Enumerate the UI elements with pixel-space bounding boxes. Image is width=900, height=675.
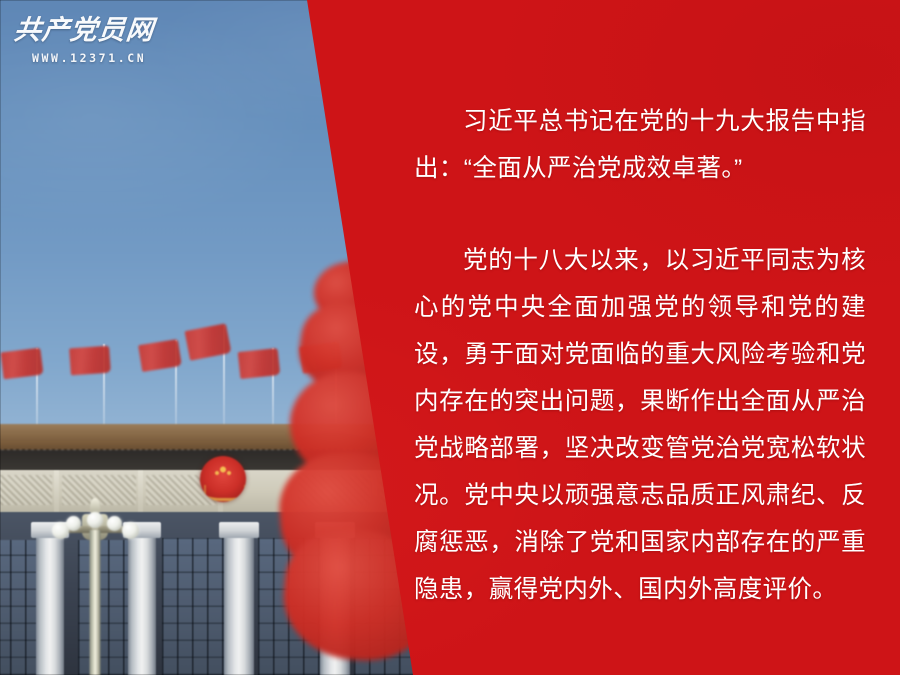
lamp-globe [66, 516, 81, 531]
article-copy: 习近平总书记在党的十九大报告中指出：“全面从严治党成效卓著。” 党的十八大以来，… [414, 98, 866, 613]
window [162, 538, 230, 675]
paragraph-body: 党的十八大以来，以习近平同志为核心的党中央全面加强党的领导和党的建设，勇于面对党… [414, 237, 866, 613]
lamp-globe [122, 522, 139, 539]
frieze-divider [138, 470, 143, 512]
column-capital [219, 522, 259, 538]
site-watermark[interactable]: 共产党员网 WWW.12371.CN [14, 14, 164, 65]
site-name-label: 共产党员网 [12, 14, 156, 48]
site-logo-icon: 共产党员网 [14, 14, 150, 48]
lamp-shaft [90, 530, 101, 675]
column [224, 522, 254, 675]
paragraph-quote: 习近平总书记在党的十九大报告中指出：“全面从严治党成效卓著。” [414, 98, 866, 192]
lamp-globe [87, 512, 103, 528]
national-emblem [200, 456, 246, 502]
site-url-label: WWW.12371.CN [32, 51, 164, 65]
flag-cloth [1, 348, 44, 380]
frieze-carving [0, 475, 52, 505]
flag-cloth [238, 348, 281, 379]
flag-cloth [69, 346, 111, 376]
lamp-post [52, 496, 138, 675]
lamp-globe [107, 516, 122, 531]
poster-canvas: 习近平总书记在党的十九大报告中指出：“全面从严治党成效卓著。” 党的十八大以来，… [0, 0, 900, 675]
